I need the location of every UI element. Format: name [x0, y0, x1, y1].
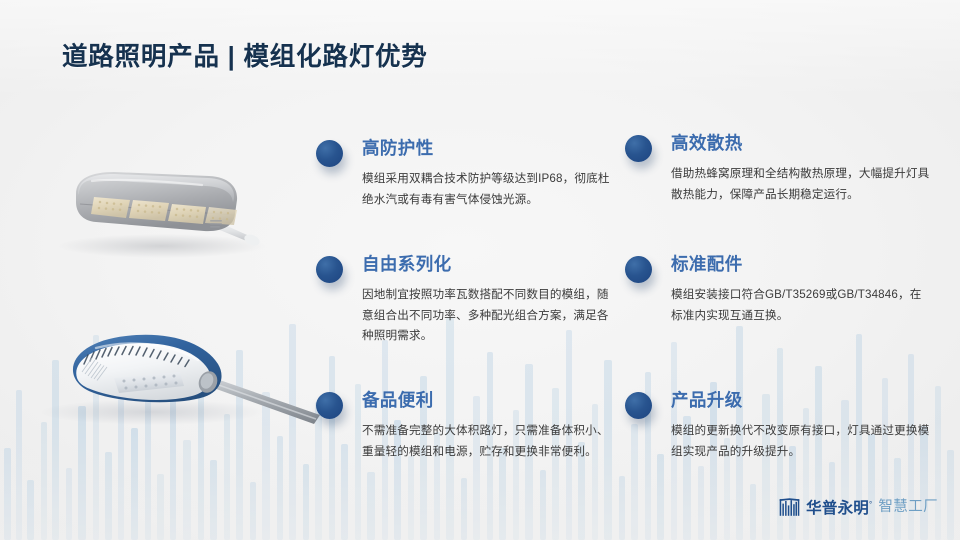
decorative-bar — [4, 448, 11, 540]
feature-heading: 高效散热 — [671, 131, 933, 155]
decorative-bar — [183, 440, 191, 540]
feature-body: 自由系列化 因地制宜按照功率瓦数搭配不同数目的模组，随意组合出不同功率、多种配光… — [362, 252, 612, 347]
decorative-bar — [78, 406, 86, 540]
bullet-dot-icon — [625, 256, 652, 283]
logo-company-name: 华普永明° — [806, 495, 872, 518]
decorative-bar — [27, 480, 34, 540]
decorative-bar — [461, 478, 467, 540]
bullet-dot-icon — [316, 140, 343, 167]
decorative-bar — [41, 422, 47, 540]
feature-description: 模组的更新换代不改变原有接口，灯具通过更换模组实现产品的升级提升。 — [671, 421, 933, 462]
feature-heading: 备品便利 — [362, 388, 612, 412]
decorative-bar — [341, 444, 348, 540]
decorative-bar — [408, 456, 414, 540]
feature-heading: 高防护性 — [362, 136, 612, 160]
decorative-bar — [170, 398, 176, 540]
decorative-bar — [105, 452, 112, 540]
feature-description: 不需准备完整的大体积路灯，只需准备体积小、重量轻的模组和电源，贮存和更换非常便利… — [362, 421, 612, 462]
feature-heading: 标准配件 — [671, 252, 933, 276]
decorative-bar — [303, 464, 309, 540]
decorative-bar — [210, 460, 217, 540]
logo-tagline: 智慧工厂 — [878, 498, 938, 517]
feature-body: 标准配件 模组安装接口符合GB/T35269或GB/T34846，在标准内实现互… — [671, 252, 933, 326]
feature-description: 因地制宜按照功率瓦数搭配不同数目的模组，随意组合出不同功率、多种配光组合方案，满… — [362, 285, 612, 347]
bullet-dot-icon — [625, 392, 652, 419]
decorative-bar — [66, 468, 72, 540]
logo-name-text: 华普永明 — [806, 501, 869, 518]
decorative-bar — [619, 476, 625, 540]
decorative-bar — [289, 324, 296, 540]
decorative-bar — [315, 402, 322, 540]
decorative-bar — [329, 356, 335, 540]
brand-logo: 华普永明° 智慧工厂 — [779, 496, 938, 518]
decorative-bar — [224, 414, 230, 540]
decorative-bar — [367, 472, 375, 540]
feature-body: 产品升级 模组的更新换代不改变原有接口，灯具通过更换模组实现产品的升级提升。 — [671, 388, 933, 462]
feature-body: 高防护性 模组采用双耦合技术防护等级达到IP68，彻底杜绝水汽或有毒有害气体侵蚀… — [362, 136, 612, 210]
decorative-bar — [540, 470, 546, 540]
bullet-dot-icon — [316, 256, 343, 283]
feature-heading: 产品升级 — [671, 388, 933, 412]
decorative-bar — [93, 335, 99, 540]
decorative-bar — [750, 484, 756, 540]
decorative-bar — [262, 392, 270, 540]
led-street-light-grey-module-photo — [34, 148, 304, 270]
decorative-bar — [131, 428, 138, 540]
page-title: 道路照明产品 | 模组化路灯优势 — [62, 40, 682, 74]
title-wrapper: 道路照明产品 | 模组化路灯优势 — [62, 40, 682, 80]
feature-heading: 自由系列化 — [362, 252, 612, 276]
bullet-dot-icon — [316, 392, 343, 419]
decorative-bar — [698, 466, 704, 540]
decorative-bar — [250, 482, 256, 540]
decorative-bar — [157, 474, 164, 540]
feature-description: 模组安装接口符合GB/T35269或GB/T34846，在标准内实现互通互换。 — [671, 285, 933, 326]
slide-root: 道路照明产品 | 模组化路灯优势 高防护性 模组采用双耦合技术防护等级达到IP6… — [0, 0, 960, 540]
decorative-bar — [16, 390, 22, 540]
decorative-bar — [145, 344, 151, 540]
decorative-bar — [236, 350, 243, 540]
decorative-bar — [657, 454, 664, 540]
feature-description: 借助热蜂窝原理和全结构散热原理，大幅提升灯具散热能力，保障产品长期稳定运行。 — [671, 164, 933, 205]
decorative-bar — [198, 368, 204, 540]
feature-body: 高效散热 借助热蜂窝原理和全结构散热原理，大幅提升灯具散热能力，保障产品长期稳定… — [671, 131, 933, 205]
decorative-bar — [947, 450, 954, 540]
huapu-logo-icon — [779, 498, 800, 517]
decorative-bar — [277, 436, 283, 540]
decorative-bar — [118, 380, 124, 540]
decorative-bar — [631, 424, 638, 540]
decorative-bar — [52, 360, 59, 540]
logo-superscript: ° — [869, 500, 872, 509]
feature-description: 模组采用双耦合技术防护等级达到IP68，彻底杜绝水汽或有毒有害气体侵蚀光源。 — [362, 169, 612, 210]
decorative-bar — [355, 384, 361, 540]
bullet-dot-icon — [625, 135, 652, 162]
feature-body: 备品便利 不需准备完整的大体积路灯，只需准备体积小、重量轻的模组和电源，贮存和更… — [362, 388, 612, 462]
led-street-light-blue-teardrop-photo — [22, 320, 322, 455]
